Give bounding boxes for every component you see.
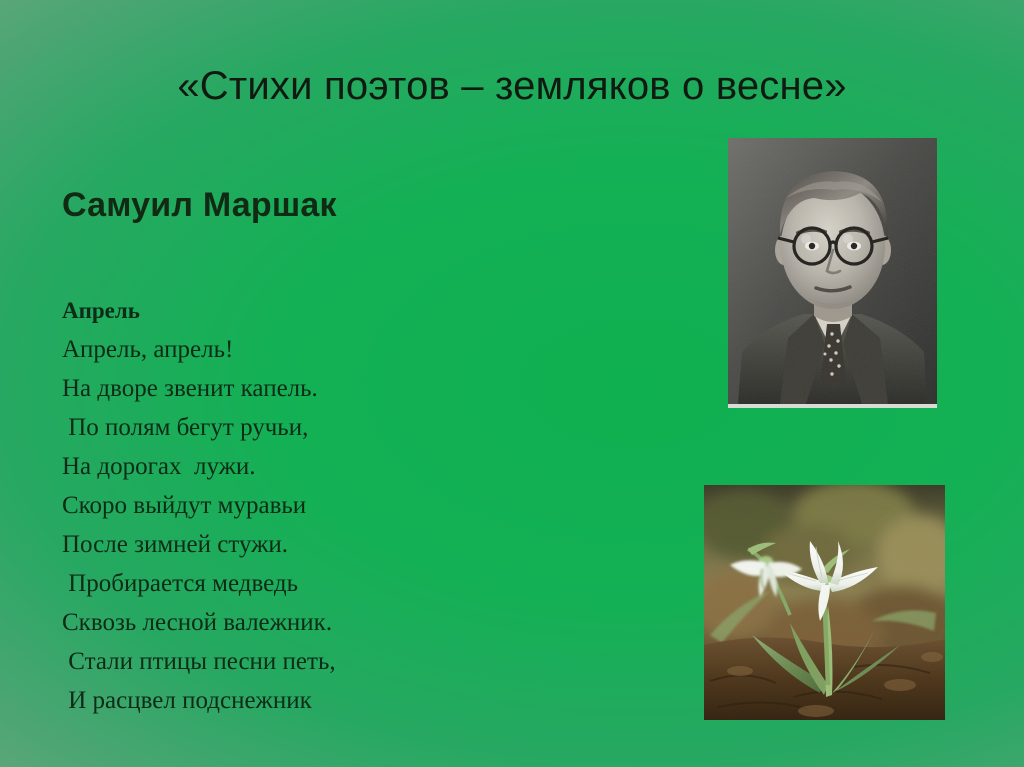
poem-line: Скоро выйдут муравьи xyxy=(62,486,482,525)
poem-line: Стали птицы песни петь, xyxy=(62,642,482,681)
poem-line: После зимней стужи. xyxy=(62,525,482,564)
poem-line: Пробирается медведь xyxy=(62,564,482,603)
portrait-photo xyxy=(728,138,937,408)
poem-title: Апрель xyxy=(62,296,482,326)
poem-line: На дворе звенит капель. xyxy=(62,369,482,408)
poem-line: Сквозь лесной валежник. xyxy=(62,603,482,642)
poem-line: На дорогах лужи. xyxy=(62,447,482,486)
author-name: Самуил Маршак xyxy=(62,186,337,225)
snowdrop-photo xyxy=(704,485,945,720)
poem-block: Апрель Апрель, апрель! На дворе звенит к… xyxy=(62,296,482,720)
presentation-slide: «Стихи поэтов – земляков о весне» Самуил… xyxy=(0,0,1024,767)
page-title: «Стихи поэтов – земляков о весне» xyxy=(0,64,1024,109)
poem-line: По полям бегут ручьи, xyxy=(62,408,482,447)
poem-line: Апрель, апрель! xyxy=(62,330,482,369)
poem-line: И расцвел подснежник xyxy=(62,681,482,720)
